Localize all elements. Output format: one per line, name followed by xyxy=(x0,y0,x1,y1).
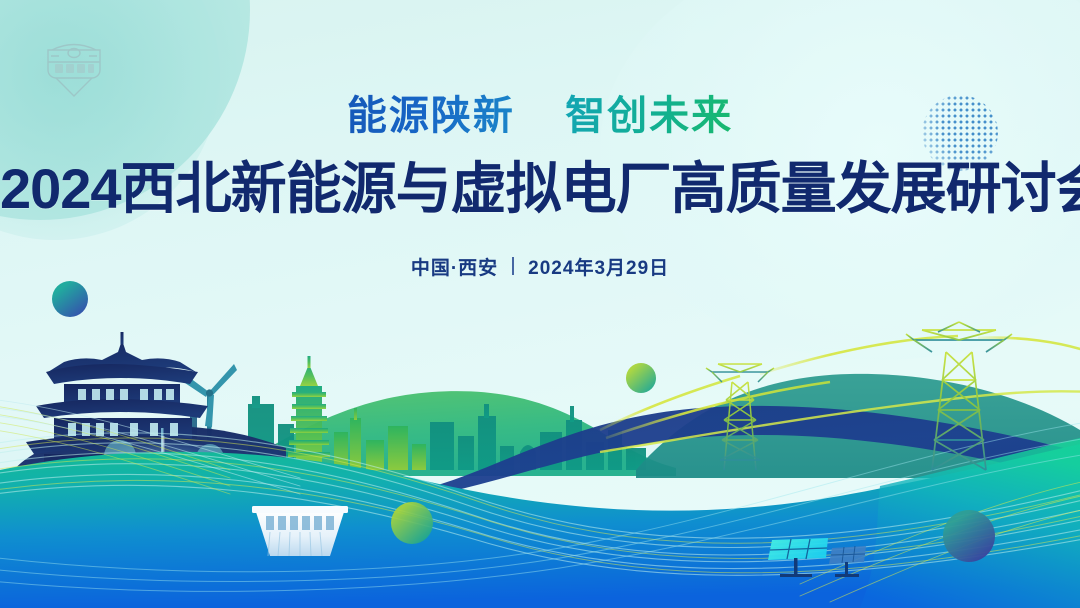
event-poster: 能源陕新 智创未来 2024西北新能源与虚拟电厂高质量发展研讨会 中国·西安 2… xyxy=(0,0,1080,608)
meta-separator xyxy=(512,257,514,275)
page-title: 2024西北新能源与虚拟电厂高质量发展研讨会 xyxy=(0,160,1080,219)
slogan: 能源陕新 智创未来 xyxy=(0,96,1080,136)
floating-sphere-green-left xyxy=(391,502,433,544)
slogan-part-1: 能源陕新 xyxy=(347,94,515,138)
floating-sphere-upper-left xyxy=(52,281,88,317)
poster-text-block: 能源陕新 智创未来 2024西北新能源与虚拟电厂高质量发展研讨会 中国·西安 2… xyxy=(0,0,1080,280)
slogan-part-2: 智创未来 xyxy=(565,94,733,138)
event-meta: 中国·西安 2024年3月29日 xyxy=(0,253,1080,280)
event-location: 中国·西安 xyxy=(411,253,498,280)
event-date: 2024年3月29日 xyxy=(528,253,669,280)
floating-sphere-lower-right xyxy=(943,510,995,562)
floating-sphere-mid xyxy=(626,363,656,393)
